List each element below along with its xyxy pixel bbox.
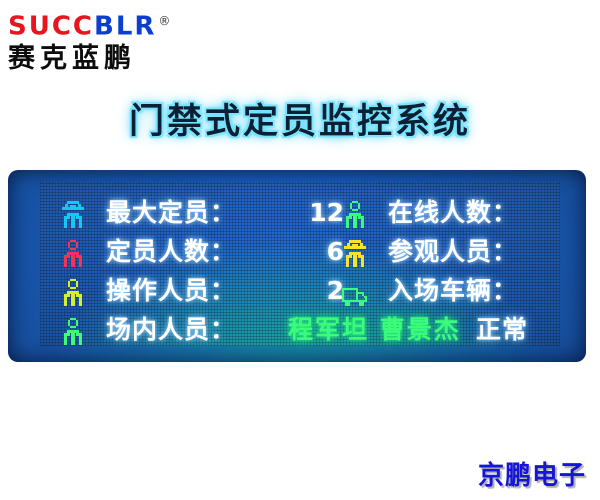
led-label: 场内人员： xyxy=(106,313,236,346)
brand-wordmark: SUCCBLR® xyxy=(8,6,208,42)
person-icon xyxy=(58,277,88,309)
led-label: 操作人员： xyxy=(106,274,236,307)
led-field-online-count: 在线人数： 3 xyxy=(340,196,586,235)
led-row: 操作人员： 2 xyxy=(40,274,560,313)
page-title: 门禁式定员监控系统 xyxy=(0,93,600,144)
led-row-onsite-personnel: 场内人员： 程军坦 曹景杰 正常 xyxy=(40,313,560,352)
registered-trademark-icon: ® xyxy=(158,14,170,28)
status-badge: 正常 xyxy=(476,313,528,346)
vendor-mark: 京鹏电子 xyxy=(478,455,586,492)
led-label: 参观人员： xyxy=(388,235,518,268)
led-label: 入场车辆： xyxy=(388,274,518,307)
brand-chinese-name: 赛克蓝鹏 xyxy=(8,43,208,75)
truck-icon xyxy=(340,277,370,309)
led-field-registered-count: 定员人数： 6 xyxy=(58,235,348,274)
led-row: 最大定员： 12 xyxy=(40,196,560,235)
led-row: 定员人数： 6 xyxy=(40,235,560,274)
person-cap-icon xyxy=(340,238,370,270)
led-field-visitor-count: 参观人员： 0 xyxy=(340,235,586,274)
person-icon xyxy=(58,316,88,348)
led-label: 定员人数： xyxy=(106,235,236,268)
person-cap-icon xyxy=(58,199,88,231)
led-field-max-capacity: 最大定员： 12 xyxy=(58,196,348,235)
led-display-panel: 最大定员： 12 xyxy=(8,170,586,362)
led-label: 最大定员： xyxy=(106,196,236,229)
person-icon xyxy=(340,199,370,231)
brand-wordmark-blr: BLR xyxy=(94,12,156,42)
brand-wordmark-succ: SUCC xyxy=(8,12,94,42)
led-label: 在线人数： xyxy=(388,196,518,229)
led-rows: 最大定员： 12 xyxy=(40,182,560,346)
led-field-operator-count: 操作人员： 2 xyxy=(58,274,348,313)
onsite-personnel-names: 程军坦 曹景杰 xyxy=(288,313,461,346)
led-field-vehicle-count: 入场车辆： 0 xyxy=(340,274,586,313)
person-icon xyxy=(58,238,88,270)
led-screen: 最大定员： 12 xyxy=(40,182,560,346)
brand-logo: SUCCBLR® 赛克蓝鹏 xyxy=(8,6,208,76)
led-value: 12 xyxy=(309,196,344,229)
